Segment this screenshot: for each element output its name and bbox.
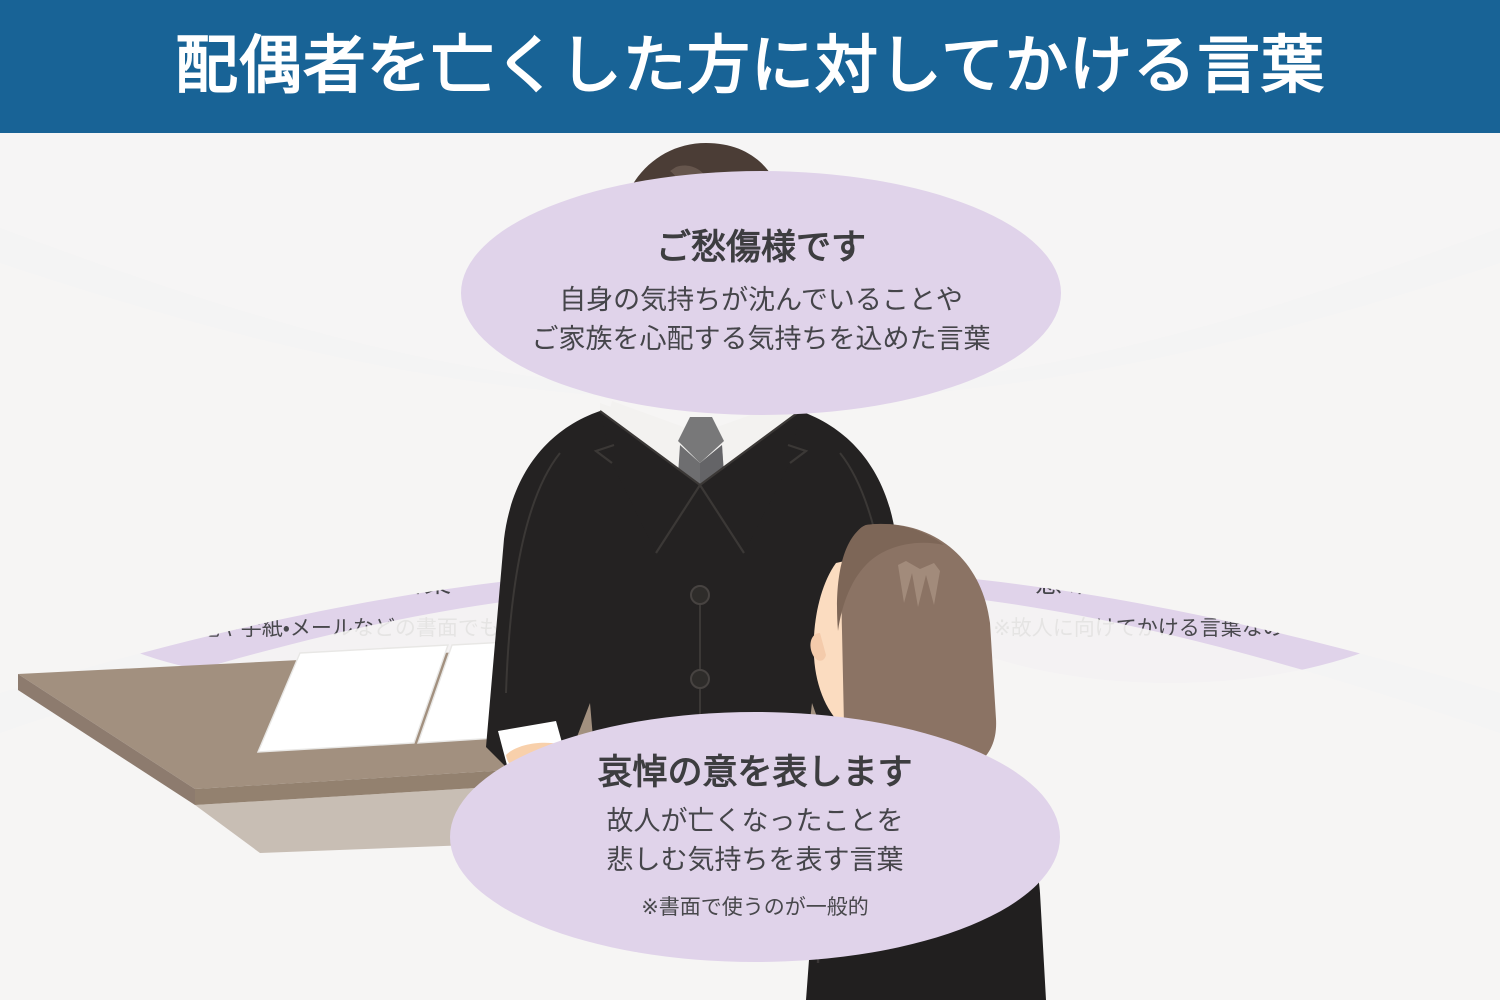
header-bar: 配偶者を亡くした方に対してかける言葉: [0, 0, 1500, 133]
bubble-title: ご愁傷様です: [656, 227, 866, 268]
phrase-bubble-aitou: 哀悼の意を表します 故人が亡くなったことを 悲しむ気持ちを表す言葉 ※書面で使う…: [450, 712, 1060, 962]
page-title: 配偶者を亡くした方に対してかける言葉: [175, 35, 1325, 98]
bubble-body-line-1: 故人が亡くなったことを: [607, 802, 904, 841]
bubble-note: ※書面で使うのが一般的: [641, 893, 869, 922]
infographic-canvas: 配偶者を亡くした方に対してかける言葉 ご愁傷様です 自身の気持ちが沈んでいること…: [0, 0, 1500, 1000]
bubble-body-line-2: 悲しむ気持ちを表す言葉: [607, 841, 904, 880]
bubble-body-line-2: ご家族を心配する気持ちを込めた言葉: [532, 320, 991, 359]
bubble-title: 哀悼の意を表します: [597, 752, 912, 793]
bubble-body-line-1: 自身の気持ちが沈んでいることや: [559, 281, 963, 320]
phrase-bubble-goshuushousama: ご愁傷様です 自身の気持ちが沈んでいることや ご家族を心配する気持ちを込めた言葉: [461, 171, 1061, 415]
